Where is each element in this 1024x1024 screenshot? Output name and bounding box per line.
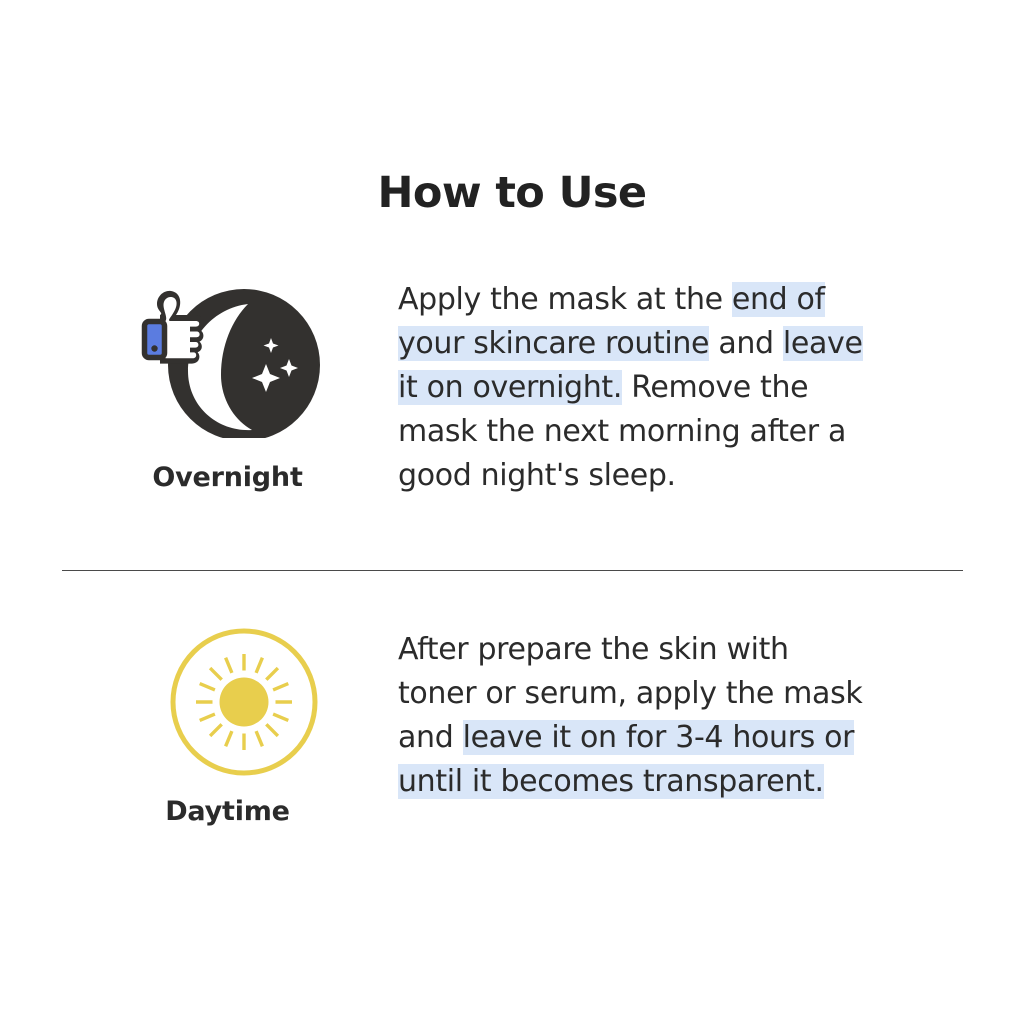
overnight-body-text: Apply the mask at the end of your skinca…: [398, 278, 868, 498]
text-segment: Apply the mask at the: [398, 282, 732, 317]
page-title: How to Use: [0, 172, 1024, 215]
daytime-body-text: After prepare the skin with toner or ser…: [398, 628, 868, 804]
section-overnight: Overnight Apply the mask at the end of y…: [0, 278, 1024, 518]
section-daytime: Daytime After prepare the skin with tone…: [0, 628, 1024, 878]
text-segment: and: [709, 326, 783, 361]
moon-stars-thumbs-up-icon: [128, 278, 328, 438]
overnight-label: Overnight: [110, 462, 345, 493]
text-segment-highlighted: leave it on for 3-4 hours or until it be…: [398, 720, 854, 799]
daytime-label: Daytime: [110, 796, 345, 827]
daytime-icon-column: Daytime: [110, 628, 345, 827]
how-to-use-panel: How to Use: [0, 0, 1024, 1024]
overnight-icon-column: Overnight: [110, 278, 345, 493]
section-divider: [62, 570, 963, 571]
sun-in-circle-icon: [128, 628, 328, 780]
